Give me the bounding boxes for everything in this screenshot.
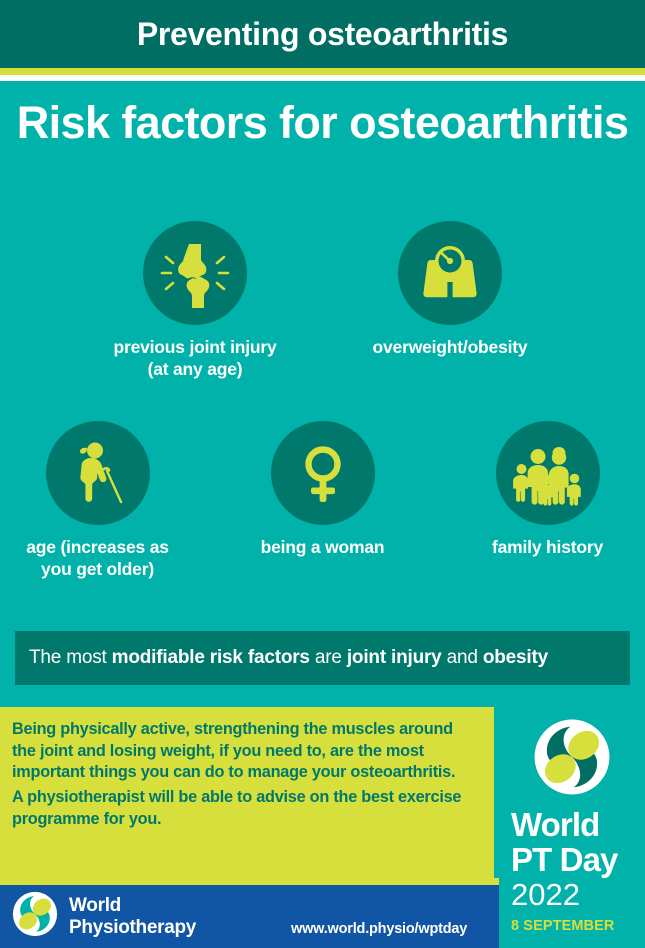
banner-part-5: and bbox=[442, 647, 483, 668]
elderly-person-with-cane-icon bbox=[63, 438, 133, 508]
weighing-scale-icon bbox=[415, 238, 485, 308]
risk-factor-overweight-obesity: overweight/obesity bbox=[353, 221, 548, 380]
icon-circle bbox=[398, 221, 502, 325]
risk-factor-label: previous joint injury (at any age) bbox=[113, 336, 276, 380]
footer-accent-rule bbox=[0, 878, 499, 885]
wpt-line-world: World bbox=[511, 808, 645, 841]
world-physiotherapy-logo bbox=[12, 891, 58, 942]
key-message-text: The most modifiable risk factors are joi… bbox=[15, 647, 548, 669]
footer-brand-line-2: Physiotherapy bbox=[69, 917, 196, 938]
risk-factor-label: age (increases as you get older) bbox=[26, 536, 169, 580]
icon-circle bbox=[46, 421, 150, 525]
banner-part-6: obesity bbox=[483, 647, 548, 668]
icon-circle bbox=[271, 421, 375, 525]
banner-part-3: are bbox=[310, 647, 347, 668]
advice-paragraph-1: Being physically active, strengthening t… bbox=[12, 719, 480, 784]
risk-factor-previous-joint-injury: previous joint injury (at any age) bbox=[98, 221, 293, 380]
risk-factor-age: age (increases as you get older) bbox=[5, 421, 190, 580]
footer-url: www.world.physio/wptday bbox=[291, 921, 467, 937]
header-bar: Preventing osteoarthritis bbox=[0, 0, 645, 68]
banner-part-2: modifiable risk factors bbox=[112, 647, 310, 668]
header-title: Preventing osteoarthritis bbox=[137, 18, 508, 50]
risk-factor-label: being a woman bbox=[261, 536, 385, 558]
banner-part-4: joint injury bbox=[347, 647, 442, 668]
wpt-year: 2022 bbox=[511, 879, 645, 912]
page-title: Risk factors for osteoarthritis bbox=[0, 98, 645, 148]
risk-factor-family-history: family history bbox=[455, 421, 640, 580]
knee-joint-pain-icon bbox=[160, 238, 230, 308]
pinwheel-logo-icon bbox=[12, 891, 58, 937]
footer-brand-line-1: World bbox=[69, 895, 196, 916]
world-pt-day-panel: World PT Day 2022 8 SEPTEMBER bbox=[499, 707, 645, 948]
infographic-poster: Preventing osteoarthritis Risk factors f… bbox=[0, 0, 645, 948]
header-accent-rule bbox=[0, 68, 645, 75]
advice-paragraph-2: A physiotherapist will be able to advise… bbox=[12, 787, 480, 830]
risk-factor-label: overweight/obesity bbox=[373, 336, 528, 358]
footer-bar: World Physiotherapy bbox=[0, 885, 499, 948]
icon-circle bbox=[143, 221, 247, 325]
wpt-date: 8 SEPTEMBER bbox=[511, 918, 645, 934]
risk-factor-row-one: previous joint injury (at any age) overw… bbox=[0, 221, 645, 380]
world-pt-day-wordmark: World PT Day 2022 8 SEPTEMBER bbox=[499, 808, 645, 934]
wpt-line-ptday: PT Day bbox=[511, 843, 645, 876]
risk-factor-being-a-woman: being a woman bbox=[230, 421, 415, 580]
advice-panel: Being physically active, strengthening t… bbox=[0, 707, 494, 878]
key-message-banner: The most modifiable risk factors are joi… bbox=[15, 631, 630, 685]
world-pt-day-logo bbox=[533, 718, 611, 801]
risk-factor-row-two: age (increases as you get older) being a… bbox=[0, 421, 645, 580]
pinwheel-logo-icon bbox=[533, 718, 611, 796]
risk-factor-label: family history bbox=[492, 536, 603, 558]
main-body: Risk factors for osteoarthritis bbox=[0, 81, 645, 701]
footer-brand-name: World Physiotherapy bbox=[69, 895, 196, 938]
icon-circle bbox=[496, 421, 600, 525]
female-gender-symbol-icon bbox=[288, 438, 358, 508]
banner-part-1: The most bbox=[29, 647, 112, 668]
family-group-icon bbox=[511, 438, 585, 508]
